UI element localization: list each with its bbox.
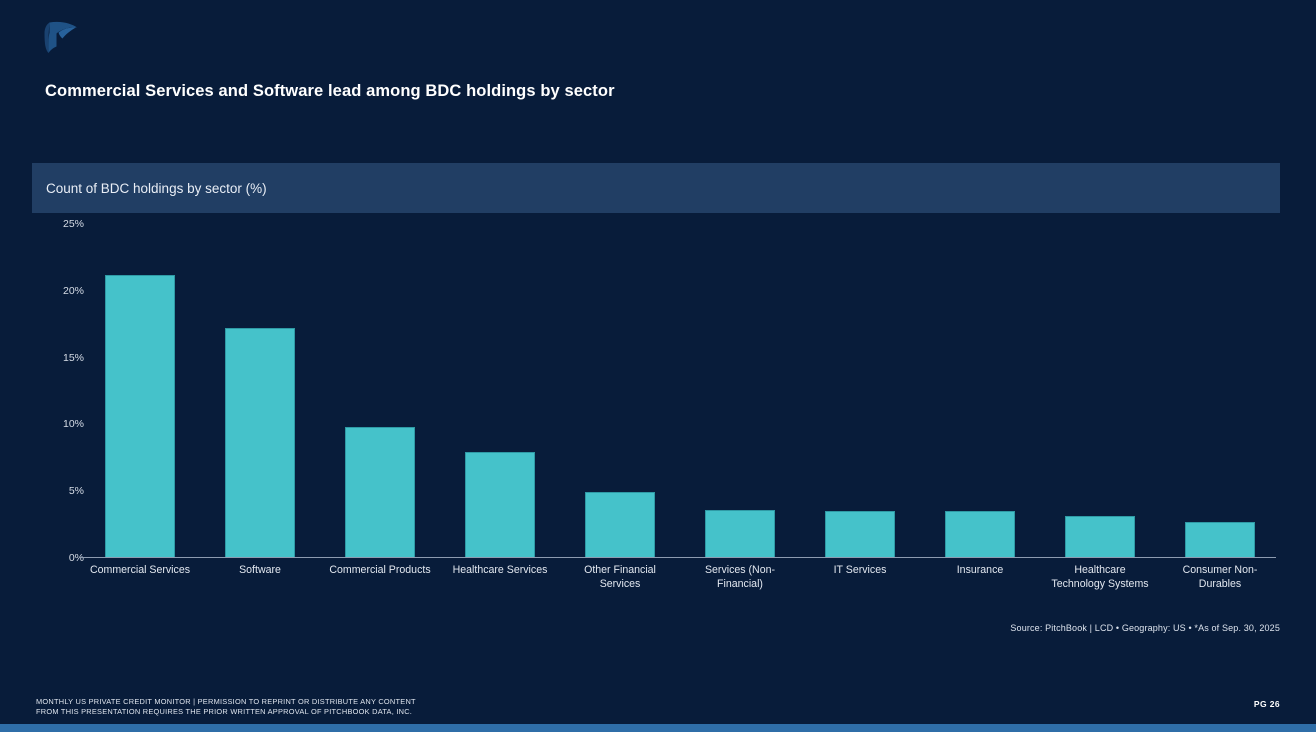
bar-slot xyxy=(200,223,320,557)
bar-slot xyxy=(80,223,200,557)
x-axis-tick-label: Commercial Services xyxy=(80,564,200,591)
x-axis-tick-label: HealthcareTechnology Systems xyxy=(1040,564,1160,591)
bar-slot xyxy=(320,223,440,557)
x-axis-tick-label: Commercial Products xyxy=(320,564,440,591)
x-axis-tick-label-line: Healthcare Services xyxy=(442,564,558,578)
bar[interactable] xyxy=(465,452,535,556)
x-axis-tick-label-line: Durables xyxy=(1162,578,1278,592)
footer-accent-rule xyxy=(0,724,1316,732)
footer-legal-line-2: FROM THIS PRESENTATION REQUIRES THE PRIO… xyxy=(36,707,416,717)
bar-slot xyxy=(800,223,920,557)
x-axis-tick-label-line: Technology Systems xyxy=(1042,578,1158,592)
bar[interactable] xyxy=(585,492,655,556)
x-axis-labels: Commercial ServicesSoftwareCommercial Pr… xyxy=(80,564,1280,591)
footer-legal: MONTHLY US PRIVATE CREDIT MONITOR | PERM… xyxy=(36,697,416,717)
bar-slot xyxy=(680,223,800,557)
x-axis-tick-label-line: Consumer Non- xyxy=(1162,564,1278,578)
bar[interactable] xyxy=(945,511,1015,556)
x-axis-tick-label: IT Services xyxy=(800,564,920,591)
x-axis-tick-label-line: Commercial Services xyxy=(82,564,198,578)
page-number: PG 26 xyxy=(1254,699,1280,709)
bar-slot xyxy=(920,223,1040,557)
slide-root: Commercial Services and Software lead am… xyxy=(0,0,1316,732)
page-title: Commercial Services and Software lead am… xyxy=(45,82,615,101)
bar[interactable] xyxy=(225,328,295,556)
footer-legal-line-1: MONTHLY US PRIVATE CREDIT MONITOR | PERM… xyxy=(36,697,416,707)
bar[interactable] xyxy=(825,511,895,556)
plot-area xyxy=(80,222,1280,558)
pitchbook-logo-icon xyxy=(36,14,82,60)
bar[interactable] xyxy=(345,427,415,557)
bar-chart: 25%20%15%10%5%0% Commercial ServicesSoft… xyxy=(32,222,1280,612)
bar[interactable] xyxy=(1185,522,1255,557)
x-axis-tick-label-line: Services xyxy=(562,578,678,592)
x-axis-tick-label-line: IT Services xyxy=(802,564,918,578)
x-axis-baseline xyxy=(80,557,1276,559)
bar[interactable] xyxy=(705,510,775,557)
x-axis-tick-label-line: Services (Non- xyxy=(682,564,798,578)
bar[interactable] xyxy=(105,275,175,557)
bar-slot xyxy=(1040,223,1160,557)
source-note: Source: PitchBook | LCD • Geography: US … xyxy=(1010,623,1280,633)
x-axis-tick-label: Services (Non-Financial) xyxy=(680,564,800,591)
bar-slot xyxy=(440,223,560,557)
bar-slot xyxy=(560,223,680,557)
x-axis-tick-label-line: Healthcare xyxy=(1042,564,1158,578)
x-axis-tick-label: Healthcare Services xyxy=(440,564,560,591)
x-axis-tick-label: Insurance xyxy=(920,564,1040,591)
x-axis-tick-label-line: Other Financial xyxy=(562,564,678,578)
x-axis-tick-label-line: Financial) xyxy=(682,578,798,592)
chart-header-band: Count of BDC holdings by sector (%) xyxy=(32,163,1280,213)
x-axis-tick-label-line: Insurance xyxy=(922,564,1038,578)
x-axis-tick-label: Consumer Non-Durables xyxy=(1160,564,1280,591)
x-axis-tick-label: Software xyxy=(200,564,320,591)
bar[interactable] xyxy=(1065,516,1135,556)
chart-title: Count of BDC holdings by sector (%) xyxy=(46,181,267,196)
x-axis-tick-label-line: Commercial Products xyxy=(322,564,438,578)
x-axis-tick-label: Other FinancialServices xyxy=(560,564,680,591)
x-axis-tick-label-line: Software xyxy=(202,564,318,578)
bar-slot xyxy=(1160,223,1280,557)
bar-group xyxy=(80,223,1280,557)
